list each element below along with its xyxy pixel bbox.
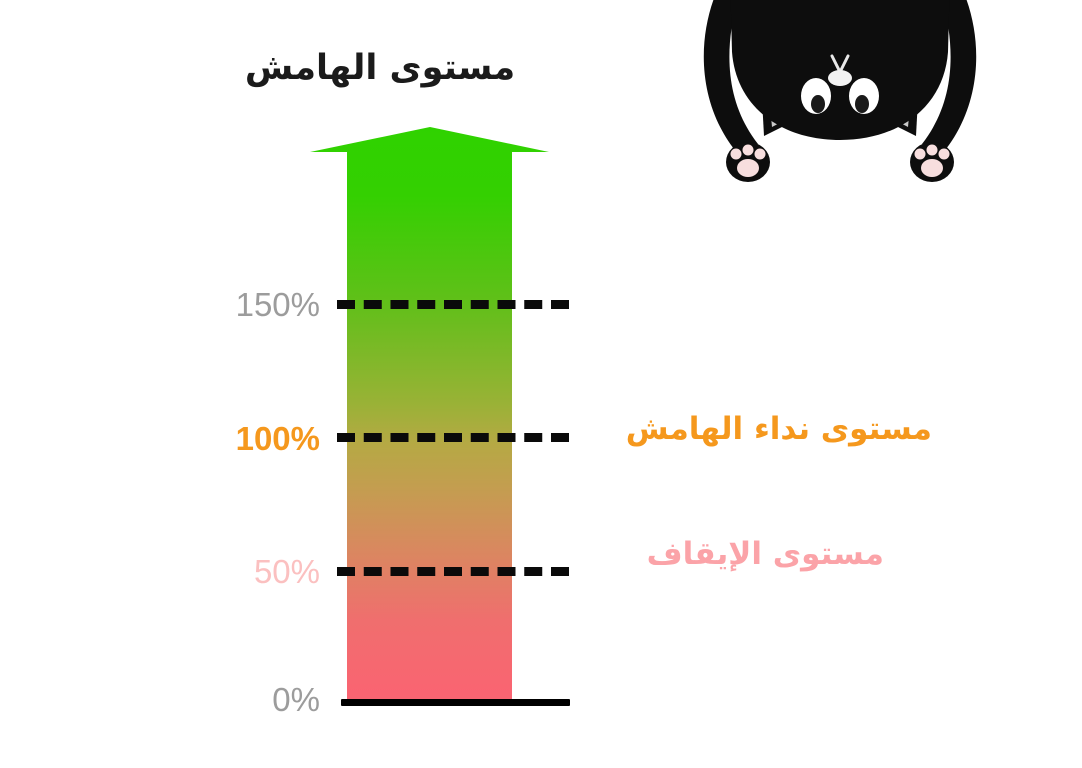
axis-baseline bbox=[341, 699, 570, 706]
threshold-line-150 bbox=[337, 300, 569, 309]
cat-right-paw bbox=[910, 142, 954, 182]
margin-level-gauge bbox=[300, 118, 560, 710]
cat-right-pupil bbox=[855, 95, 869, 113]
annotation-margin-call-level: مستوى نداء الهامش bbox=[626, 411, 932, 447]
threshold-line-50 bbox=[337, 567, 569, 576]
axis-tick-150: 150% bbox=[180, 286, 320, 324]
threshold-line-100 bbox=[337, 433, 569, 442]
axis-tick-0: 0% bbox=[180, 681, 320, 719]
cat-nose bbox=[828, 70, 852, 86]
axis-tick-100: 100% bbox=[180, 420, 320, 458]
chart-canvas: مستوى الهامش bbox=[0, 0, 1082, 768]
cat-left-pupil bbox=[811, 95, 825, 113]
gauge-arrow-shape bbox=[310, 127, 549, 702]
annotation-stop-out-level: مستوى الإيقاف bbox=[647, 536, 884, 572]
cat-left-paw bbox=[726, 142, 770, 182]
chart-title: مستوى الهامش bbox=[180, 48, 580, 88]
axis-tick-50: 50% bbox=[180, 553, 320, 591]
cat-illustration bbox=[690, 0, 990, 194]
